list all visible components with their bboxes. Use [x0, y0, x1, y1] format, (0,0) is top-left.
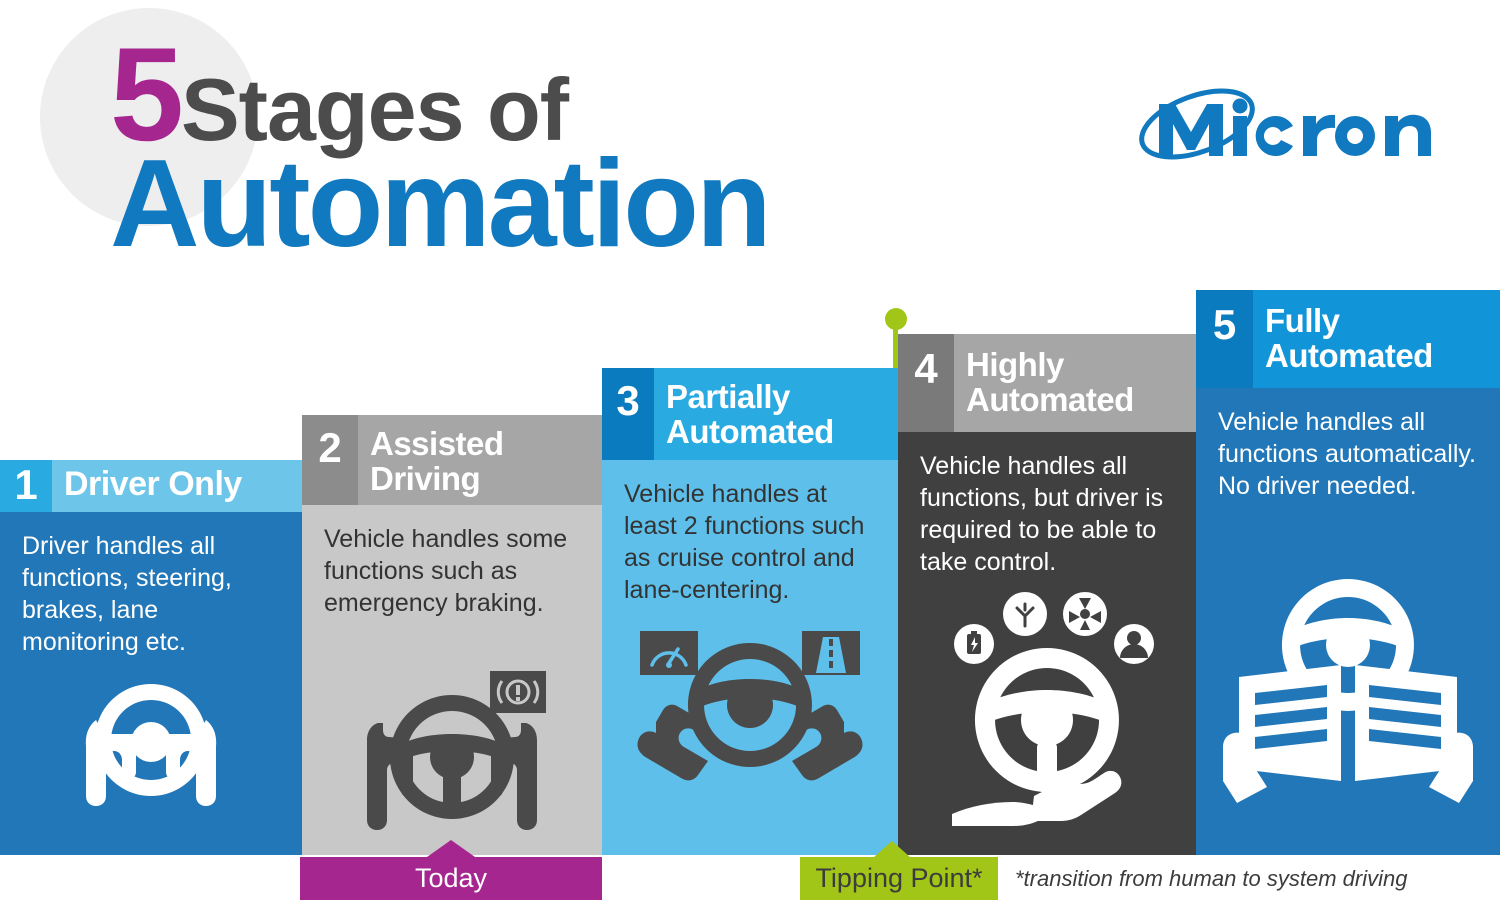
stage-2-description: Vehicle handles some functions such as e…: [324, 523, 580, 619]
stage-3-icon: [602, 625, 898, 800]
stage-1-body: Driver handles all functions, steering, …: [0, 512, 302, 855]
stage-5-number: 5: [1196, 290, 1253, 388]
stage-4-header: 4 Highly Automated: [898, 334, 1196, 432]
stage-4-icon: [898, 582, 1196, 832]
stage-3-number: 3: [602, 368, 654, 460]
stage-3-description: Vehicle handles at least 2 functions suc…: [624, 478, 876, 606]
stage-5-header: 5 Fully Automated: [1196, 290, 1500, 388]
stage-3-title: Partially Automated: [654, 368, 898, 460]
stage-column-4[interactable]: 4 Highly Automated Vehicle handles all f…: [898, 334, 1196, 855]
stage-1-title: Driver Only: [52, 460, 302, 512]
stage-5-title: Fully Automated: [1253, 290, 1500, 388]
stage-column-5[interactable]: 5 Fully Automated Vehicle handles all fu…: [1196, 290, 1500, 855]
tipping-point-banner[interactable]: Tipping Point*: [800, 857, 998, 900]
stage-4-body: Vehicle handles all functions, but drive…: [898, 432, 1196, 855]
stage-5-body: Vehicle handles all functions automatica…: [1196, 388, 1500, 855]
stage-2-number: 2: [302, 415, 358, 505]
stage-3-body: Vehicle handles at least 2 functions suc…: [602, 460, 898, 855]
steering-wheel-hands-off-with-cruise-and-lane-icons: [630, 625, 870, 800]
stage-column-2[interactable]: 2 Assisted Driving Vehicle handles some …: [302, 415, 602, 855]
micron-logo: [1135, 80, 1435, 170]
stage-column-3[interactable]: 3 Partially Automated Vehicle handles at…: [602, 368, 898, 855]
micron-orbit-logo-icon: [1135, 80, 1435, 170]
footnote-text: *transition from human to system driving: [1015, 866, 1408, 892]
page-title: 5Stages of Automation: [110, 34, 769, 259]
stage-column-1[interactable]: 1 Driver Only Driver handles all functio…: [0, 460, 302, 855]
tipping-point-banner-notch: [874, 841, 910, 857]
stage-5-icon: [1196, 573, 1500, 803]
tipping-point-banner-label: Tipping Point*: [815, 863, 982, 894]
steering-wheel-two-hands-gripping-icon: [56, 672, 246, 822]
stage-1-icon: [0, 672, 302, 822]
today-banner[interactable]: Today: [300, 857, 602, 900]
stage-1-description: Driver handles all functions, steering, …: [22, 530, 280, 658]
steering-wheel-with-hands-reading-newspaper-icon: [1223, 573, 1473, 803]
title-line-two: Automation: [110, 150, 769, 259]
steering-wheel-with-feature-icons-and-resting-hands: [922, 582, 1172, 832]
stage-2-header: 2 Assisted Driving: [302, 415, 602, 505]
today-banner-label: Today: [415, 863, 487, 894]
stage-1-header: 1 Driver Only: [0, 460, 302, 512]
page-header: 5Stages of Automation: [0, 0, 1500, 290]
stage-4-number: 4: [898, 334, 954, 432]
stage-2-body: Vehicle handles some functions such as e…: [302, 505, 602, 855]
today-banner-notch: [427, 840, 475, 857]
stage-2-icon: [302, 665, 602, 830]
stage-1-number: 1: [0, 460, 52, 512]
stage-4-title: Highly Automated: [954, 334, 1196, 432]
stage-3-header: 3 Partially Automated: [602, 368, 898, 460]
stage-4-description: Vehicle handles all functions, but drive…: [920, 450, 1174, 578]
steering-wheel-hands-with-brake-warning-icon: [342, 665, 562, 830]
stage-5-description: Vehicle handles all functions automatica…: [1218, 406, 1478, 502]
tipping-point-dot: [885, 308, 907, 330]
stage-2-title: Assisted Driving: [358, 415, 602, 505]
